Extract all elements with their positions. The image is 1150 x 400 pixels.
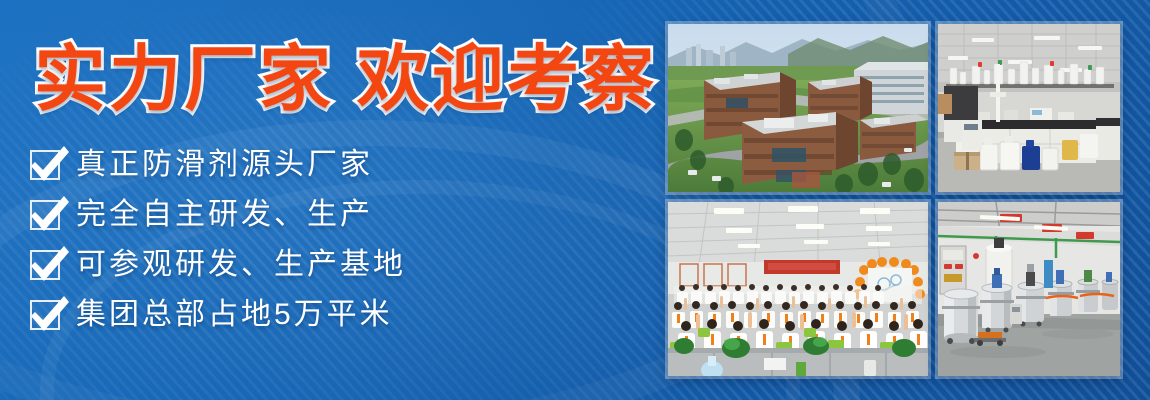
- checkbox-checked-icon: [30, 200, 60, 230]
- checkbox-checked-icon: [30, 300, 60, 330]
- feature-bullet-item: 真正防滑剂源头厂家: [30, 143, 406, 187]
- feature-bullet-label: 完全自主研发、生产: [76, 200, 373, 230]
- company-photo-grid: [668, 24, 1120, 376]
- checkbox-checked-icon: [30, 150, 60, 180]
- photo-aerial-campus: [668, 24, 928, 192]
- banner-headline: 实力厂家 欢迎考察: [34, 44, 657, 116]
- photo-office-staff: [668, 202, 928, 376]
- banner-text-column: 实力厂家 欢迎考察 真正防滑剂源头厂家 完全自主研发、生产: [0, 0, 660, 400]
- photo-laboratory: [938, 24, 1120, 192]
- feature-bullet-item: 可参观研发、生产基地: [30, 243, 406, 287]
- feature-bullet-list: 真正防滑剂源头厂家 完全自主研发、生产 可参观研发、生产基地: [30, 143, 406, 337]
- feature-bullet-label: 真正防滑剂源头厂家: [76, 150, 373, 180]
- feature-bullet-item: 集团总部占地5万平米: [30, 293, 406, 337]
- checkbox-checked-icon: [30, 250, 60, 280]
- feature-bullet-label: 集团总部占地5万平米: [76, 300, 393, 330]
- promo-banner: 实力厂家 欢迎考察 真正防滑剂源头厂家 完全自主研发、生产: [0, 0, 1150, 400]
- feature-bullet-label: 可参观研发、生产基地: [76, 250, 406, 280]
- photo-production-line: [938, 202, 1120, 376]
- feature-bullet-item: 完全自主研发、生产: [30, 193, 406, 237]
